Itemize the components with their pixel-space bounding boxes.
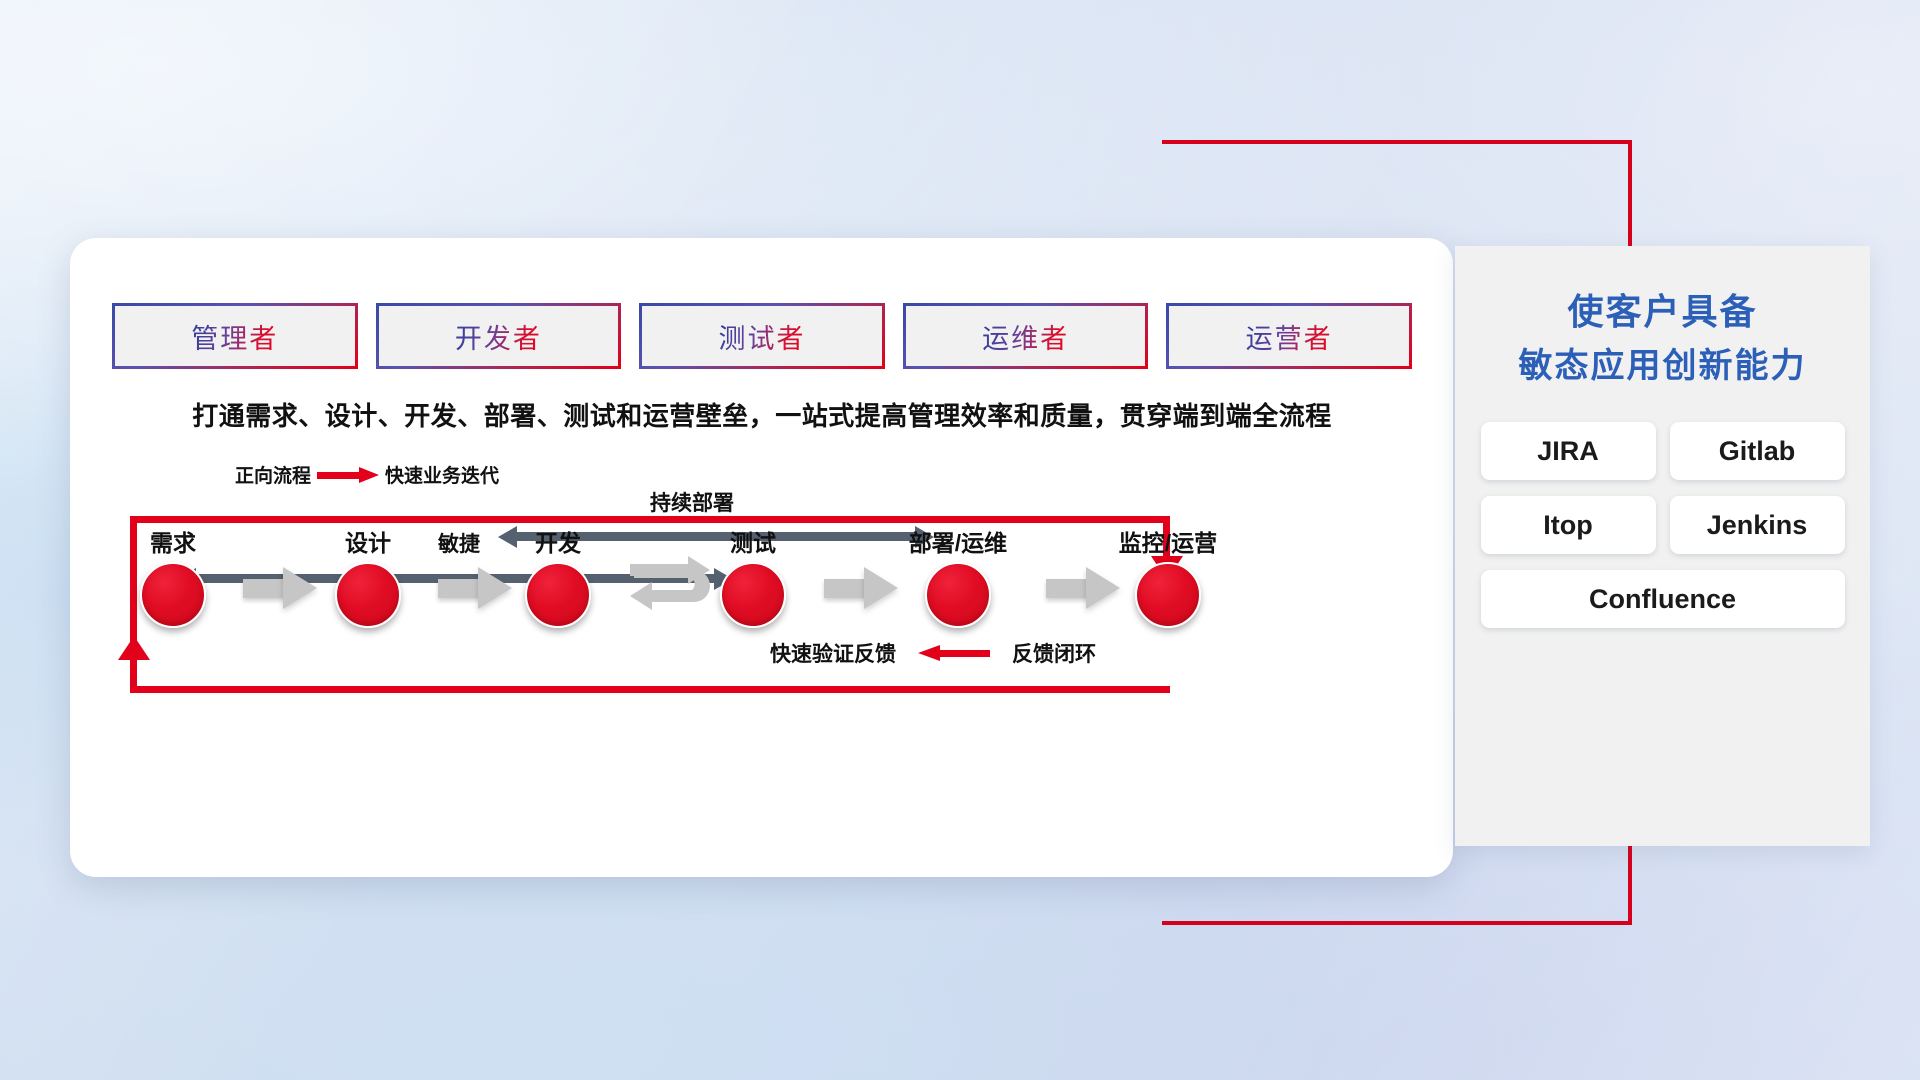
role-label: 运营者 xyxy=(1246,317,1333,356)
tool-item-confluence[interactable]: Confluence xyxy=(1481,570,1845,628)
role-label: 开发者 xyxy=(455,317,542,356)
stage-dot-icon xyxy=(1135,562,1201,628)
pipeline-stage-testing[interactable]: 测试 xyxy=(688,524,818,628)
pipeline-stage-deploy-ops[interactable]: 部署/运维 xyxy=(878,524,1038,628)
main-content-card: 管理者 开发者 测试者 运维者 运营者 打通需求、设计、开发、部署、测试和运营壁… xyxy=(70,238,1453,877)
tool-item-itop[interactable]: Itop xyxy=(1481,496,1656,554)
feedback-source-label: 反馈闭环 xyxy=(1012,638,1096,668)
stage-dot-icon xyxy=(335,562,401,628)
role-box-operations[interactable]: 运营者 xyxy=(1166,303,1412,369)
stage-dot-icon xyxy=(720,562,786,628)
role-box-tester[interactable]: 测试者 xyxy=(639,303,885,369)
tool-list: JIRA Gitlab Itop Jenkins Confluence xyxy=(1473,422,1852,628)
feedback-loop-annotation: 快速验证反馈 反馈闭环 xyxy=(770,638,1096,668)
role-box-developer[interactable]: 开发者 xyxy=(376,303,622,369)
tool-item-jira[interactable]: JIRA xyxy=(1481,422,1656,480)
pipeline-stage-requirements[interactable]: 需求 xyxy=(108,524,238,628)
role-label: 测试者 xyxy=(718,317,805,356)
devops-pipeline: 需求 设计 开发 测试 部署/运维 xyxy=(108,504,1418,634)
panel-title-line2: 敏态应用创新能力 xyxy=(1455,340,1870,393)
stage-label: 设计 xyxy=(303,524,433,558)
role-box-manager[interactable]: 管理者 xyxy=(112,303,358,369)
red-arrow-left-icon xyxy=(918,645,990,661)
stage-label: 测试 xyxy=(688,524,818,558)
stage-dot-icon xyxy=(525,562,591,628)
pipeline-stage-development[interactable]: 开发 xyxy=(493,524,623,628)
tool-item-gitlab[interactable]: Gitlab xyxy=(1670,422,1845,480)
tool-item-jenkins[interactable]: Jenkins xyxy=(1670,496,1845,554)
stage-label: 监控/运营 xyxy=(1083,524,1253,558)
forward-flow-annotation: 正向流程 快速业务迭代 xyxy=(235,461,499,488)
stage-dot-icon xyxy=(140,562,206,628)
role-box-row: 管理者 开发者 测试者 运维者 运营者 xyxy=(112,303,1412,369)
forward-flow-target-label: 快速业务迭代 xyxy=(385,461,499,488)
feedback-result-label: 快速验证反馈 xyxy=(770,638,896,668)
role-label: 运维者 xyxy=(982,317,1069,356)
stage-label: 部署/运维 xyxy=(878,524,1038,558)
stage-dot-icon xyxy=(925,562,991,628)
red-arrow-right-icon xyxy=(317,467,379,483)
role-box-ops[interactable]: 运维者 xyxy=(903,303,1149,369)
red-loop-arrow-up-icon xyxy=(118,636,150,660)
forward-flow-source-label: 正向流程 xyxy=(235,461,311,488)
pipeline-stage-design[interactable]: 设计 xyxy=(303,524,433,628)
role-label: 管理者 xyxy=(191,317,278,356)
panel-title-line1: 使客户具备 xyxy=(1455,284,1870,340)
description-text: 打通需求、设计、开发、部署、测试和运营壁垒，一站式提高管理效率和质量，贯穿端到端… xyxy=(112,396,1412,433)
stage-label: 需求 xyxy=(108,524,238,558)
capability-panel: 使客户具备 敏态应用创新能力 JIRA Gitlab Itop Jenkins … xyxy=(1455,246,1870,846)
panel-title: 使客户具备 敏态应用创新能力 xyxy=(1455,284,1870,392)
pipeline-stage-monitor-operate[interactable]: 监控/运营 xyxy=(1083,524,1253,628)
stage-label: 开发 xyxy=(493,524,623,558)
